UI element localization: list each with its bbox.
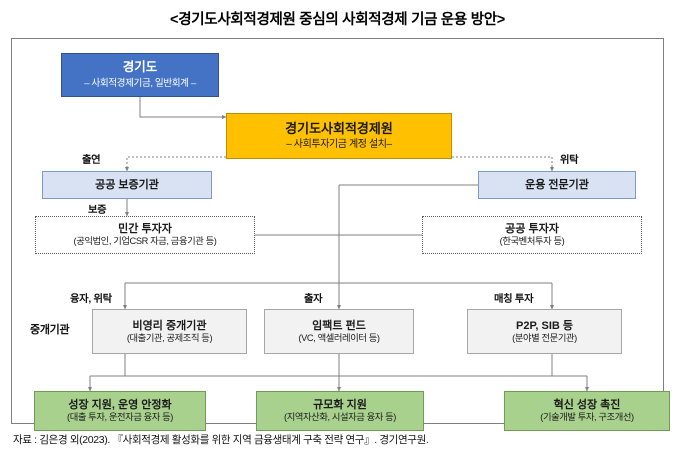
node-public-investor[interactable]: 공공 투자자 (한국벤처투자 등) — [422, 216, 642, 254]
node-public-investor-subtitle: (한국벤처투자 등) — [500, 236, 565, 247]
node-scale-support-subtitle: (지역자산화, 시설자금 융자 등) — [284, 412, 396, 423]
node-growth-support-title: 성장 지원, 운영 안정화 — [68, 399, 171, 412]
node-innovation-support-title: 혁신 성장 촉진 — [554, 399, 621, 412]
node-innovation-support-subtitle: (기술개발 투자, 구조개선) — [540, 412, 633, 423]
group-label-intermediary: 중개기관 — [30, 321, 69, 337]
node-center-title: 경기도사회적경제원 — [285, 121, 393, 136]
node-impact-fund-subtitle: (VC, 액셀러레이터 등) — [298, 333, 379, 344]
node-scale-support-title: 규모화 지원 — [313, 399, 367, 412]
page-title: <경기도사회적경제원 중심의 사회적경제 기금 운용 방안> — [0, 8, 675, 29]
node-public-guarantee-title: 공공 보증기관 — [95, 179, 159, 192]
node-p2p-sib[interactable]: P2P, SIB 등 (분야별 전문기관) — [467, 309, 622, 354]
node-private-investor-title: 민간 투자자 — [118, 223, 172, 236]
node-province-title: 경기도 — [123, 60, 158, 75]
node-operating-agency[interactable]: 운용 전문기관 — [478, 171, 636, 199]
node-p2p-sib-subtitle: (분야별 전문기관) — [512, 333, 577, 344]
node-innovation-support[interactable]: 혁신 성장 촉진 (기술개발 투자, 구조개선) — [504, 391, 670, 431]
node-private-investor[interactable]: 민간 투자자 (공익법인, 기업CSR 자금, 금융기관 등) — [35, 216, 255, 254]
edge-label-equity: 출자 — [304, 290, 322, 305]
diagram-frame: 경기도 – 사회적경제기금, 일반회계 – 경기도사회적경제원 – 사회투자기금… — [11, 38, 664, 424]
node-nonprofit-intermediary-title: 비영리 중개기관 — [133, 320, 207, 333]
node-public-guarantee[interactable]: 공공 보증기관 — [42, 171, 212, 199]
node-nonprofit-intermediary-subtitle: (대출기관, 공제조직 등) — [127, 333, 212, 344]
edge-label-contribution: 출연 — [82, 151, 100, 166]
node-p2p-sib-title: P2P, SIB 등 — [516, 320, 573, 333]
node-province[interactable]: 경기도 – 사회적경제기금, 일반회계 – — [61, 53, 219, 97]
node-public-investor-title: 공공 투자자 — [505, 223, 559, 236]
node-operating-agency-title: 운용 전문기관 — [525, 179, 589, 192]
node-impact-fund[interactable]: 임팩트 펀드 (VC, 액셀러레이터 등) — [264, 309, 414, 354]
edge-label-matching-investment: 매칭 투자 — [494, 290, 533, 305]
node-center[interactable]: 경기도사회적경제원 – 사회투자기금 계정 설치– — [226, 113, 452, 159]
node-province-subtitle: – 사회적경제기금, 일반회계 – — [84, 78, 196, 89]
node-private-investor-subtitle: (공익법인, 기업CSR 자금, 금융기관 등) — [74, 236, 217, 247]
node-center-subtitle: – 사회투자기금 계정 설치– — [286, 139, 391, 151]
edge-label-loan-entrust: 융자, 위탁 — [70, 290, 112, 305]
source-citation: 자료 : 김은경 외(2023). 『사회적경제 활성화를 위한 지역 금융생태… — [13, 432, 673, 447]
node-nonprofit-intermediary[interactable]: 비영리 중개기관 (대출기관, 공제조직 등) — [92, 309, 247, 354]
node-growth-support-subtitle: (대출 투자, 운전자금 융자 등) — [67, 412, 173, 423]
edge-label-guarantee: 보증 — [88, 201, 106, 216]
node-scale-support[interactable]: 규모화 지원 (지역자산화, 시설자금 융자 등) — [256, 391, 424, 431]
edge-label-entrustment: 위탁 — [560, 151, 578, 166]
node-impact-fund-title: 임팩트 펀드 — [312, 320, 366, 333]
node-growth-support[interactable]: 성장 지원, 운영 안정화 (대출 투자, 운전자금 융자 등) — [34, 391, 206, 431]
